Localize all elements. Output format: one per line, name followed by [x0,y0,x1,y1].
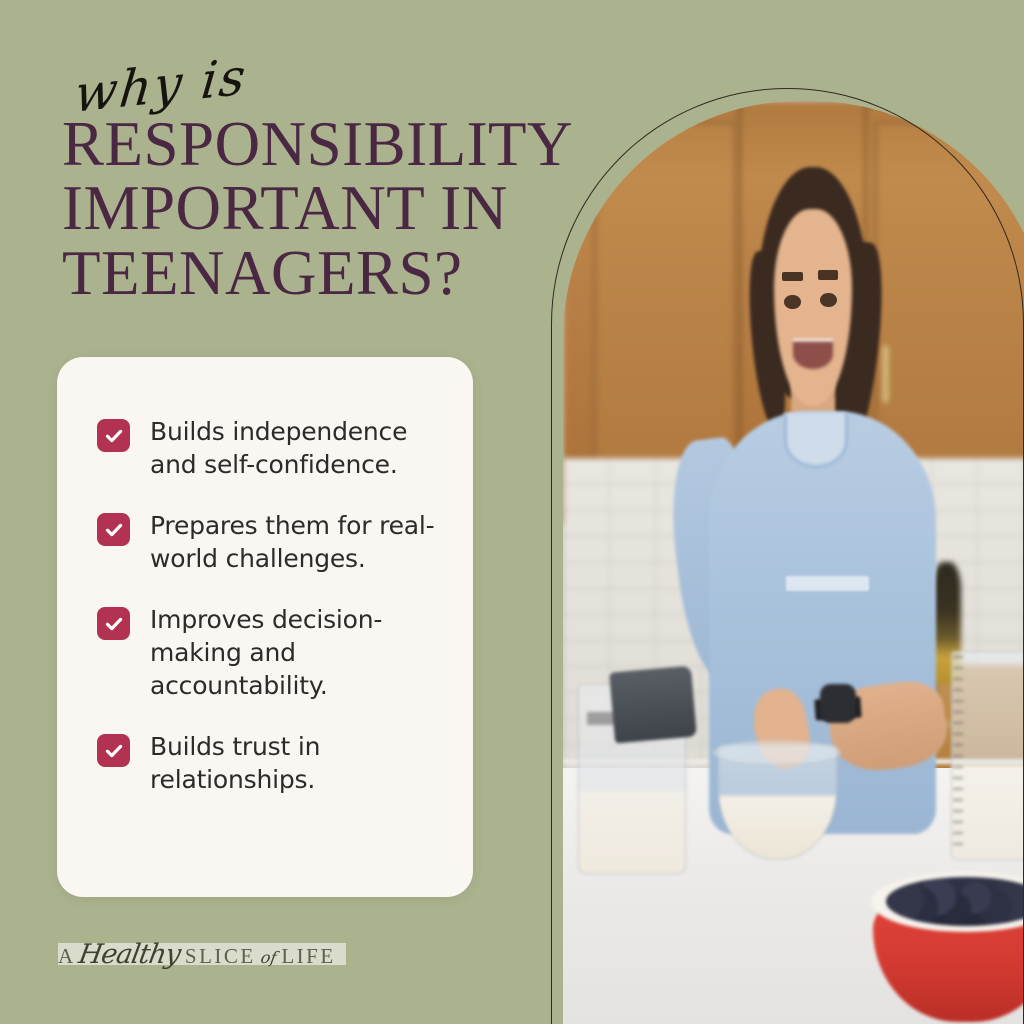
list-item: Builds trust in relationships. [97,730,453,796]
list-item: Builds independence and self-confidence. [97,415,453,481]
logo-text: A Healthy SLICE of LIFE [58,939,336,970]
logo-part-healthy: Healthy [76,939,182,970]
list-item: Prepares them for real-world challenges. [97,509,453,575]
page-title: RESPONSIBILITY IMPORTANT IN TEENAGERS? [62,112,573,305]
arch-outline [551,88,1024,1024]
logo-part-of: of [259,948,278,967]
checkmark-icon [97,607,130,640]
poster-canvas: why is RESPONSIBILITY IMPORTANT IN TEENA… [0,0,1024,1024]
list-item: Improves decision-making and accountabil… [97,603,453,702]
list-item-label: Builds independence and self-confidence. [150,415,450,481]
headline-line-1: RESPONSIBILITY [62,112,573,176]
list-item-label: Builds trust in relationships. [150,730,450,796]
checkmark-icon [97,513,130,546]
logo-part-life: LIFE [281,944,335,969]
checkmark-icon [97,419,130,452]
logo-part-a: A [58,944,74,969]
checklist-card: Builds independence and self-confidence.… [57,357,473,897]
headline-line-2: IMPORTANT IN [62,176,573,240]
brand-logo: A Healthy SLICE of LIFE [58,932,346,976]
list-item-label: Prepares them for real-world challenges. [150,509,450,575]
headline-line-3: TEENAGERS? [62,241,573,305]
arch-photo-frame [551,88,1024,1024]
list-item-label: Improves decision-making and accountabil… [150,603,450,702]
checkmark-icon [97,734,130,767]
logo-part-slice: SLICE [185,944,256,969]
checklist: Builds independence and self-confidence.… [97,415,453,796]
